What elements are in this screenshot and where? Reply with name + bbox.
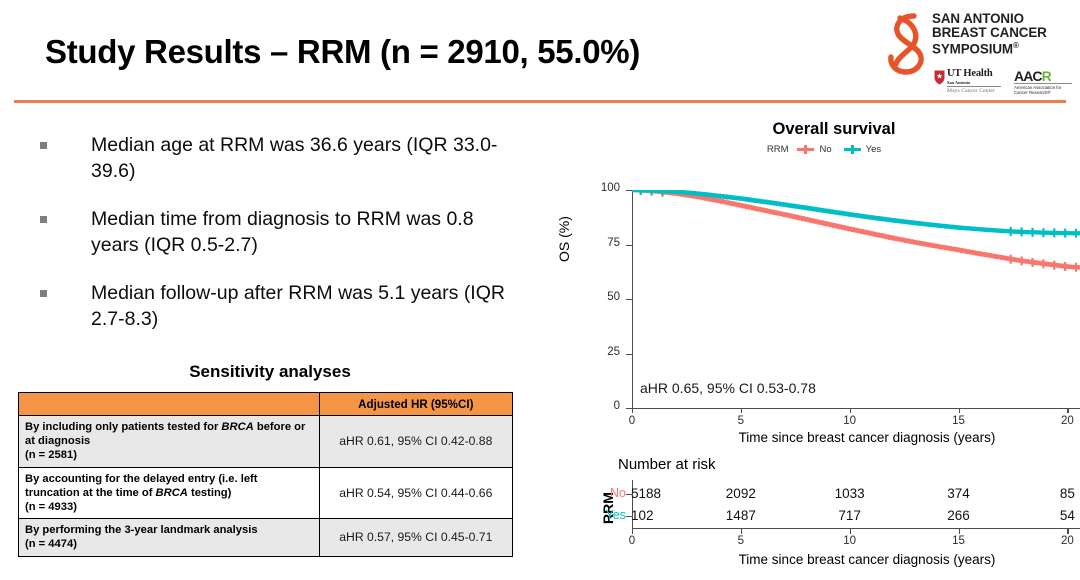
y-tick-label: 100 (586, 182, 620, 194)
sabcs-logo: SAN ANTONIO BREAST CANCER SYMPOSIUM® UT … (884, 6, 1076, 98)
risk-x-tick-label: 0 (617, 535, 647, 547)
aacr-tagline: American Association for Cancer Research… (1014, 85, 1074, 95)
legend-title: RRM (767, 144, 789, 155)
aacr-wordmark: AACR (1014, 68, 1051, 84)
mays-cancer-center-name: Mays Cancer Center (947, 88, 995, 94)
risk-x-axis-line (632, 528, 1080, 529)
shield-icon (934, 70, 945, 85)
legend-item-yes: Yes (844, 144, 882, 155)
column-header-description (19, 393, 320, 416)
logo-partner-row: UT Health San Antonio Mays Cancer Center… (934, 68, 1076, 100)
y-tick-label: 25 (586, 346, 620, 358)
x-tick-label: 0 (617, 415, 647, 427)
header-divider (14, 100, 1066, 103)
x-tick-label: 5 (726, 415, 756, 427)
risk-count: 266 (936, 508, 982, 523)
row-description: By performing the 3-year landmark analys… (19, 519, 320, 556)
bullet-text: Median time from diagnosis to RRM was 0.… (91, 206, 510, 258)
chart-legend: RRM No Yes (560, 144, 1080, 155)
risk-x-tick (741, 529, 742, 534)
ut-health-city: San Antonio (947, 80, 970, 85)
risk-count: 374 (936, 486, 982, 501)
risk-count: 1033 (827, 486, 873, 501)
y-axis-label: OS (%) (556, 216, 572, 262)
gene-name: BRCA (156, 487, 188, 499)
sabcs-ribbon-mark (884, 10, 930, 78)
table-header-row: Adjusted HR (95%CI) (19, 393, 513, 416)
risk-x-tick (1067, 529, 1068, 534)
row-description: By including only patients tested for BR… (19, 416, 320, 468)
risk-count: 2092 (718, 486, 764, 501)
row-adjusted-hr: aHR 0.61, 95% CI 0.42-0.88 (319, 416, 512, 468)
risk-count: 54 (1044, 508, 1080, 523)
legend-label-yes: Yes (866, 144, 882, 155)
chart-title: Overall survival (564, 120, 1080, 139)
risk-x-tick (850, 529, 851, 534)
risk-count: 102 (631, 508, 677, 523)
sensitivity-caption: Sensitivity analyses (0, 362, 540, 382)
risk-x-tick-label: 5 (726, 535, 756, 547)
legend-label-no: No (819, 144, 831, 155)
logo-line-2: BREAST CANCER (932, 26, 1076, 40)
table-row: By performing the 3-year landmark analys… (19, 519, 513, 556)
aacr-divider (1014, 83, 1072, 84)
risk-count: 1487 (718, 508, 764, 523)
risk-count: 85 (1044, 486, 1080, 501)
bullet-text: Median follow-up after RRM was 5.1 years… (91, 280, 510, 332)
legend-swatch-no (797, 148, 814, 151)
row-sample-size: (n = 2581) (25, 449, 77, 461)
km-curve-no (632, 190, 1080, 268)
risk-row-label-no: No (596, 486, 626, 500)
logo-line-1: SAN ANTONIO (932, 12, 1076, 26)
y-tick-label: 0 (586, 400, 620, 412)
table-row: By accounting for the delayed entry (i.e… (19, 467, 513, 519)
list-item: Median age at RRM was 36.6 years (IQR 33… (40, 132, 510, 184)
overall-survival-chart: Overall survival RRM No Yes OS (%) Time … (540, 112, 1080, 580)
page-title: Study Results – RRM (n = 2910, 55.0%) (45, 33, 640, 71)
x-tick-label: 15 (944, 415, 974, 427)
square-bullet-icon (40, 216, 47, 223)
square-bullet-icon (40, 142, 47, 149)
x-tick-label: 10 (835, 415, 865, 427)
y-tick-label: 50 (586, 291, 620, 303)
logo-line-3: SYMPOSIUM® (932, 39, 1076, 56)
x-tick-label: 20 (1052, 415, 1080, 427)
gene-name: BRCA (221, 421, 253, 433)
hazard-ratio-annotation: aHR 0.65, 95% CI 0.53-0.78 (640, 380, 816, 396)
ut-health-name: UT Health (947, 68, 993, 79)
list-item: Median follow-up after RRM was 5.1 years… (40, 280, 510, 332)
risk-x-axis-label: Time since breast cancer diagnosis (year… (632, 552, 1080, 567)
risk-count: 5188 (631, 486, 677, 501)
sabcs-wordmark: SAN ANTONIO BREAST CANCER SYMPOSIUM® (932, 12, 1076, 56)
risk-table-title: Number at risk (618, 456, 716, 473)
risk-count: 717 (827, 508, 873, 523)
row-adjusted-hr: aHR 0.57, 95% CI 0.45-0.71 (319, 519, 512, 556)
risk-x-tick-label: 15 (944, 535, 974, 547)
legend-item-no: No (797, 144, 831, 155)
risk-x-tick (959, 529, 960, 534)
km-curves (632, 190, 1080, 410)
row-adjusted-hr: aHR 0.54, 95% CI 0.44-0.66 (319, 467, 512, 519)
x-axis-label: Time since breast cancer diagnosis (year… (632, 430, 1080, 445)
bullet-text: Median age at RRM was 36.6 years (IQR 33… (91, 132, 510, 184)
row-sample-size: (n = 4474) (25, 538, 77, 550)
ut-divider (947, 86, 1001, 87)
legend-swatch-yes (844, 148, 861, 151)
y-tick-label: 75 (586, 237, 620, 249)
row-description: By accounting for the delayed entry (i.e… (19, 467, 320, 519)
risk-x-tick (632, 529, 633, 534)
registered-mark: ® (1013, 41, 1019, 50)
bullet-list: Median age at RRM was 36.6 years (IQR 33… (40, 132, 510, 354)
square-bullet-icon (40, 290, 47, 297)
row-sample-size: (n = 4933) (25, 501, 77, 513)
risk-x-tick-label: 10 (835, 535, 865, 547)
sensitivity-analyses-table: Adjusted HR (95%CI) By including only pa… (18, 392, 513, 557)
column-header-adjusted-hr: Adjusted HR (95%CI) (319, 393, 512, 416)
table-row: By including only patients tested for BR… (19, 416, 513, 468)
risk-row-label-yes: Yes (596, 508, 626, 522)
list-item: Median time from diagnosis to RRM was 0.… (40, 206, 510, 258)
risk-x-tick-label: 20 (1052, 535, 1080, 547)
